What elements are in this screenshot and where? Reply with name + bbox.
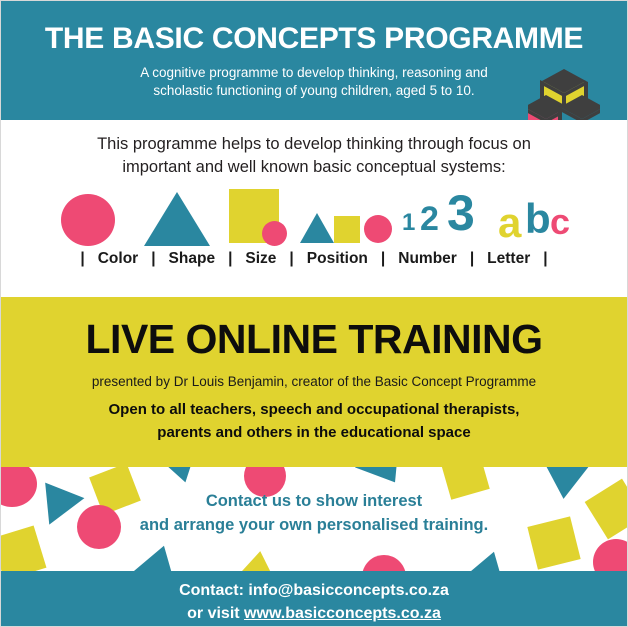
confetti-pink-circle (362, 555, 406, 571)
confetti-teal-triangle (133, 539, 185, 571)
pink-circle-icon (61, 194, 115, 246)
page-title: THE BASIC CONCEPTS PROGRAMME (1, 23, 627, 55)
concepts-lead-line-2: important and well known basic conceptua… (1, 156, 627, 179)
website-link[interactable]: www.basicconcepts.co.za (244, 605, 441, 622)
call-to-action-section: Contact us to show interest and arrange … (1, 467, 627, 571)
live-training-audience-line-2: parents and others in the educational sp… (1, 422, 627, 445)
footer-section: Contact: info@basicconcepts.co.za or vis… (1, 571, 627, 627)
position-triangle-icon (300, 213, 334, 243)
letter-c-icon: c (550, 204, 570, 240)
digit-2-icon: 2 (420, 202, 439, 236)
small-pink-circle-icon (262, 221, 287, 246)
concepts-section: This programme helps to develop thinking… (1, 120, 627, 297)
footer-visit-prefix: or visit (187, 605, 244, 622)
letter-b-icon: b (525, 198, 551, 240)
concept-icons-row: 1 2 3 a b c (1, 188, 627, 246)
live-training-title: LIVE ONLINE TRAINING (1, 317, 627, 362)
concept-label-number: Number (385, 250, 470, 268)
confetti-pink-circle (593, 539, 627, 571)
footer-contact-email: Contact: info@basicconcepts.co.za (1, 579, 627, 602)
concept-label-size: Size (232, 250, 289, 268)
stacked-cubes-logo-icon (528, 67, 600, 120)
concept-label-shape: Shape (156, 250, 229, 268)
poster-root: THE BASIC CONCEPTS PROGRAMME A cognitive… (0, 0, 628, 627)
concepts-lead-text: This programme helps to develop thinking… (1, 133, 627, 180)
concept-label-color: Color (85, 250, 151, 268)
call-to-action-line-2: and arrange your own personalised traini… (1, 514, 627, 538)
confetti-yellow-triangle (234, 548, 282, 571)
live-training-presenter: presented by Dr Louis Benjamin, creator … (1, 374, 627, 389)
digit-3-icon: 3 (447, 188, 475, 238)
live-training-audience-line-1: Open to all teachers, speech and occupat… (1, 399, 627, 422)
concept-label-letter: Letter (474, 250, 543, 268)
concept-label-position: Position (294, 250, 381, 268)
concepts-lead-line-1: This programme helps to develop thinking… (1, 133, 627, 156)
label-separator: | (543, 250, 547, 268)
live-training-section: LIVE ONLINE TRAINING presented by Dr Lou… (1, 297, 627, 467)
digit-1-icon: 1 (402, 211, 415, 235)
position-circle-icon (364, 215, 392, 243)
position-square-icon (334, 216, 360, 243)
letter-a-icon: a (498, 202, 521, 244)
call-to-action-line-1: Contact us to show interest (1, 490, 627, 514)
confetti-teal-triangle (463, 545, 515, 571)
live-training-audience: Open to all teachers, speech and occupat… (1, 399, 627, 444)
teal-triangle-icon (144, 192, 210, 246)
call-to-action-text: Contact us to show interest and arrange … (1, 467, 627, 538)
header-section: THE BASIC CONCEPTS PROGRAMME A cognitive… (1, 1, 627, 120)
footer-website-line: or visit www.basicconcepts.co.za (1, 602, 627, 625)
concept-labels-row: | Color | Shape | Size | Position | Numb… (1, 250, 627, 268)
